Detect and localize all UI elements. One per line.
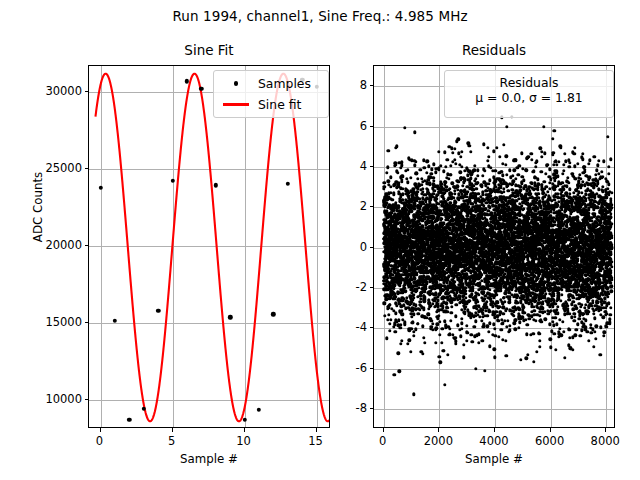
residual-point <box>480 185 483 188</box>
residual-point <box>599 353 602 356</box>
x-tick-label: 2000 <box>424 434 453 448</box>
residual-point <box>396 171 399 174</box>
y-tick-mark <box>370 368 374 369</box>
residual-point <box>460 150 463 153</box>
gridline-horizontal <box>374 167 614 168</box>
residual-point <box>442 349 445 352</box>
residual-point <box>400 339 403 342</box>
y-tick-mark <box>85 245 89 246</box>
residual-point <box>487 182 490 185</box>
residual-point <box>579 186 582 189</box>
y-tick-mark <box>370 247 374 248</box>
residual-point <box>518 189 521 192</box>
residual-point <box>582 312 585 315</box>
residual-point <box>416 312 419 315</box>
residual-point <box>517 173 520 176</box>
residual-point <box>385 336 388 339</box>
residual-point <box>477 333 480 336</box>
residual-point <box>495 146 498 149</box>
residual-point <box>567 181 570 184</box>
residual-point <box>488 309 491 312</box>
residual-point <box>486 146 489 149</box>
residual-point <box>413 131 416 134</box>
residual-point <box>578 173 581 176</box>
residual-point <box>383 301 386 304</box>
residual-point <box>454 314 457 317</box>
y-tick-label: 15000 <box>10 315 82 329</box>
y-tick-label: 4 <box>295 159 367 173</box>
residual-point <box>393 330 396 333</box>
residual-point <box>503 300 506 303</box>
residual-point <box>453 158 456 161</box>
residual-point <box>460 322 463 325</box>
residual-point <box>519 358 522 361</box>
residual-point <box>434 171 437 174</box>
residual-point <box>524 169 527 172</box>
residual-point <box>449 311 452 314</box>
residual-point <box>502 190 505 193</box>
residual-point <box>465 324 468 327</box>
residual-point <box>388 303 391 306</box>
residual-point <box>538 345 541 348</box>
residual-point <box>442 170 445 173</box>
residual-point <box>476 169 479 172</box>
residual-point <box>414 160 417 163</box>
residual-point <box>450 305 453 308</box>
residual-point <box>563 356 566 359</box>
y-tick-label: 20000 <box>10 238 82 252</box>
residual-point <box>568 187 571 190</box>
residual-point <box>558 327 561 330</box>
residual-point <box>561 188 564 191</box>
x-tick-label: 8000 <box>591 434 620 448</box>
residual-point <box>587 162 590 165</box>
residual-point <box>475 187 478 190</box>
residual-point <box>538 339 541 342</box>
residual-point <box>543 151 546 154</box>
residual-point <box>481 339 484 342</box>
residual-point <box>573 152 576 155</box>
residual-point <box>487 155 490 158</box>
x-tick-mark <box>383 428 384 432</box>
x-tick-label: 5 <box>168 434 175 448</box>
residual-point <box>530 152 533 155</box>
residual-point <box>609 269 612 272</box>
residual-point <box>406 168 409 171</box>
residual-point <box>600 170 603 173</box>
sine-fit-curve <box>89 66 330 428</box>
residual-point <box>540 155 543 158</box>
residual-point <box>421 187 424 190</box>
residual-point <box>561 320 564 323</box>
residual-point <box>501 312 504 315</box>
residual-point <box>568 298 571 301</box>
residual-point <box>505 125 508 128</box>
residual-point <box>602 334 605 337</box>
residual-point <box>400 180 403 183</box>
residual-point <box>454 340 457 343</box>
x-tick-mark <box>100 428 101 432</box>
residual-point <box>493 327 496 330</box>
residual-point <box>418 300 421 303</box>
residual-point <box>609 313 612 316</box>
residual-point <box>610 260 613 263</box>
left-x-axis-label: Sample # <box>88 452 330 466</box>
residual-point <box>568 161 571 164</box>
residual-point <box>610 289 613 292</box>
residual-point <box>501 322 504 325</box>
residual-point <box>426 160 429 163</box>
residual-point <box>437 355 440 358</box>
residual-point <box>540 170 543 173</box>
residual-point <box>538 332 541 335</box>
residual-point <box>610 222 613 225</box>
residual-point <box>556 311 559 314</box>
residual-point <box>587 208 590 211</box>
residual-point <box>555 322 558 325</box>
residual-point <box>508 169 511 172</box>
residual-point <box>394 311 397 314</box>
residual-point <box>498 155 501 158</box>
residual-point <box>483 169 486 172</box>
residual-point <box>405 177 408 180</box>
residual-point <box>514 177 517 180</box>
x-tick-label: 10 <box>236 434 251 448</box>
residual-point <box>584 318 587 321</box>
residual-point <box>393 373 396 376</box>
residual-point <box>597 159 600 162</box>
y-tick-mark <box>370 408 374 409</box>
residual-point <box>609 250 612 253</box>
residual-point <box>430 172 433 175</box>
residual-point <box>536 178 539 181</box>
residual-point <box>542 125 545 128</box>
residual-point <box>406 181 409 184</box>
residual-point <box>526 323 529 326</box>
residual-point <box>557 160 560 163</box>
residual-point <box>502 143 505 146</box>
residual-point <box>537 192 540 195</box>
residual-point <box>535 160 538 163</box>
x-tick-mark <box>244 428 245 432</box>
residual-point <box>592 345 595 348</box>
residual-point <box>397 370 400 373</box>
residual-point <box>520 152 523 155</box>
residual-point <box>462 356 465 359</box>
residual-point <box>536 186 539 189</box>
residual-point <box>571 348 574 351</box>
x-tick-label: 0 <box>379 434 386 448</box>
x-tick-mark <box>316 428 317 432</box>
residual-point <box>556 175 559 178</box>
residual-point <box>423 296 426 299</box>
residual-point <box>513 169 516 172</box>
residual-point <box>432 162 435 165</box>
residual-point <box>486 314 489 317</box>
residual-point <box>607 183 610 186</box>
residual-point <box>574 334 577 337</box>
residual-point <box>607 292 610 295</box>
residual-point <box>412 334 415 337</box>
residual-point <box>525 357 528 360</box>
residual-point <box>446 353 449 356</box>
residual-point <box>588 159 591 162</box>
left-y-axis-label-text: ADC Counts <box>31 172 45 242</box>
residual-point <box>459 171 462 174</box>
residual-point <box>552 332 555 335</box>
y-tick-mark <box>85 168 89 169</box>
residual-point <box>395 144 398 147</box>
residual-point <box>432 179 435 182</box>
residual-point <box>419 168 422 171</box>
residual-point <box>609 216 612 219</box>
residual-point <box>504 339 507 342</box>
residual-point <box>500 328 503 331</box>
residual-point <box>486 159 489 162</box>
residual-point <box>438 320 441 323</box>
residual-point <box>445 302 448 305</box>
residual-point <box>397 319 400 322</box>
residual-point <box>581 152 584 155</box>
x-tick-label: 15 <box>308 434 323 448</box>
x-tick-mark <box>438 428 439 432</box>
residual-point <box>411 321 414 324</box>
residual-point <box>505 155 508 158</box>
residual-point <box>443 151 446 154</box>
residual-point <box>483 369 486 372</box>
residual-point <box>449 173 452 176</box>
residual-point <box>475 300 478 303</box>
y-tick-label: 25000 <box>10 161 82 175</box>
residuals-legend-line1: Residuals <box>453 75 605 90</box>
residual-point <box>449 319 452 322</box>
residual-point <box>508 328 511 331</box>
residual-point <box>421 352 424 355</box>
residual-point <box>562 330 565 333</box>
residual-point <box>474 367 477 370</box>
x-tick-label: 6000 <box>535 434 564 448</box>
residual-point <box>521 306 524 309</box>
residual-point <box>467 144 470 147</box>
y-tick-label: 2 <box>295 199 367 213</box>
y-tick-mark <box>370 287 374 288</box>
y-tick-label: -6 <box>295 361 367 375</box>
residual-point <box>456 137 459 140</box>
residual-point <box>412 330 415 333</box>
residual-point <box>583 168 586 171</box>
residual-point <box>508 324 511 327</box>
residual-point <box>607 172 610 175</box>
residual-point <box>566 176 569 179</box>
residual-point <box>508 300 511 303</box>
residual-point <box>414 327 417 330</box>
x-tick-label: 4000 <box>479 434 508 448</box>
residual-point <box>444 181 447 184</box>
residual-point <box>561 172 564 175</box>
residual-point <box>609 306 612 309</box>
residual-point <box>469 177 472 180</box>
residual-point <box>544 292 547 295</box>
y-tick-label: -8 <box>295 401 367 415</box>
y-tick-mark <box>370 166 374 167</box>
y-tick-label: 10000 <box>10 392 82 406</box>
residual-point <box>460 327 463 330</box>
residual-point <box>418 308 421 311</box>
residual-point <box>546 190 549 193</box>
x-tick-mark <box>172 428 173 432</box>
residual-point <box>610 236 613 239</box>
residual-point <box>593 330 596 333</box>
residual-point <box>552 129 555 132</box>
residual-point <box>586 330 589 333</box>
residual-point <box>447 177 450 180</box>
residual-point <box>495 293 498 296</box>
residual-point <box>594 337 597 340</box>
matplotlib-figure: Run 1994, channel1, Sine Freq.: 4.985 MH… <box>0 0 640 480</box>
residual-point <box>488 322 491 325</box>
residual-point <box>440 341 443 344</box>
residual-point <box>551 305 554 308</box>
y-tick-label: 8 <box>295 78 367 92</box>
residual-point <box>497 335 500 338</box>
residual-point <box>504 354 507 357</box>
residual-point <box>559 146 562 149</box>
residual-point <box>566 307 569 310</box>
gridline-horizontal <box>374 369 614 370</box>
residual-point <box>608 320 611 323</box>
samples-marker-icon <box>214 81 258 86</box>
x-tick-mark <box>550 428 551 432</box>
residual-point <box>496 301 499 304</box>
residual-point <box>481 174 484 177</box>
residual-point <box>514 158 517 161</box>
residual-point <box>568 328 571 331</box>
residual-point <box>541 306 544 309</box>
residual-point <box>474 177 477 180</box>
residual-point <box>606 295 609 298</box>
residual-point <box>576 162 579 165</box>
y-tick-label: -4 <box>295 320 367 334</box>
residual-point <box>579 334 582 337</box>
y-tick-mark <box>85 91 89 92</box>
residual-point <box>589 323 592 326</box>
residual-point <box>587 310 590 313</box>
residual-point <box>422 166 425 169</box>
residual-point <box>539 320 542 323</box>
residual-point <box>388 322 391 325</box>
residual-point <box>551 137 554 140</box>
residual-point <box>596 182 599 185</box>
residual-point <box>499 287 502 290</box>
residual-point <box>469 150 472 153</box>
residual-point <box>448 327 451 330</box>
residual-point <box>423 341 426 344</box>
residual-point <box>412 296 415 299</box>
residual-point <box>609 157 612 160</box>
residual-point <box>403 322 406 325</box>
residual-point <box>607 301 610 304</box>
residual-point <box>388 329 391 332</box>
residual-point <box>535 350 538 353</box>
y-tick-mark <box>370 126 374 127</box>
residual-point <box>453 280 456 283</box>
residual-point <box>549 346 552 349</box>
residual-point <box>554 348 557 351</box>
residual-point <box>553 188 556 191</box>
residual-point <box>462 343 465 346</box>
residual-point <box>482 142 485 145</box>
x-tick-mark <box>494 428 495 432</box>
residual-point <box>409 350 412 353</box>
residual-point <box>427 312 430 315</box>
y-tick-label: 0 <box>295 240 367 254</box>
residual-point <box>568 192 571 195</box>
residual-point <box>553 316 556 319</box>
residual-point <box>399 323 402 326</box>
residual-point <box>525 333 528 336</box>
y-tick-mark <box>85 322 89 323</box>
residual-point <box>406 342 409 345</box>
residual-point <box>527 317 530 320</box>
residual-point <box>610 265 613 268</box>
residual-point <box>581 157 584 160</box>
residual-point <box>508 298 511 301</box>
residual-point <box>562 169 565 172</box>
residuals-legend: Residuals μ = 0.0, σ = 1.81 <box>444 70 614 118</box>
residual-point <box>488 344 491 347</box>
residual-point <box>440 217 443 220</box>
residual-point <box>401 174 404 177</box>
residuals-axes <box>373 65 615 428</box>
residual-point <box>430 168 433 171</box>
residual-point <box>501 173 504 176</box>
x-tick-mark <box>605 428 606 432</box>
residual-point <box>587 339 590 342</box>
residual-point <box>403 126 406 129</box>
residual-point <box>522 178 525 181</box>
residual-point <box>607 165 610 168</box>
residual-point <box>431 322 434 325</box>
residual-point <box>592 312 595 315</box>
residual-point <box>560 333 563 336</box>
residual-point <box>580 191 583 194</box>
y-tick-mark <box>370 206 374 207</box>
residual-point <box>459 335 462 338</box>
sine-fit-line-icon <box>214 103 258 105</box>
residual-point <box>453 147 456 150</box>
y-tick-label: 6 <box>295 119 367 133</box>
residual-point <box>438 333 441 336</box>
residual-point <box>392 287 395 290</box>
residual-point <box>464 292 467 295</box>
residual-point <box>404 289 407 292</box>
residual-point <box>606 135 609 138</box>
residual-point <box>434 341 437 344</box>
residual-point <box>446 310 449 313</box>
residual-point <box>543 180 546 183</box>
residual-point <box>593 317 596 320</box>
residual-point <box>540 183 543 186</box>
residual-point <box>453 192 456 195</box>
residual-point <box>609 206 612 209</box>
residual-point <box>592 155 595 158</box>
left-plot-title: Sine Fit <box>88 42 330 58</box>
y-tick-mark <box>370 85 374 86</box>
residual-point <box>556 305 559 308</box>
figure-suptitle: Run 1994, channel1, Sine Freq.: 4.985 MH… <box>0 8 640 24</box>
residual-point <box>465 339 468 342</box>
residual-point <box>485 300 488 303</box>
